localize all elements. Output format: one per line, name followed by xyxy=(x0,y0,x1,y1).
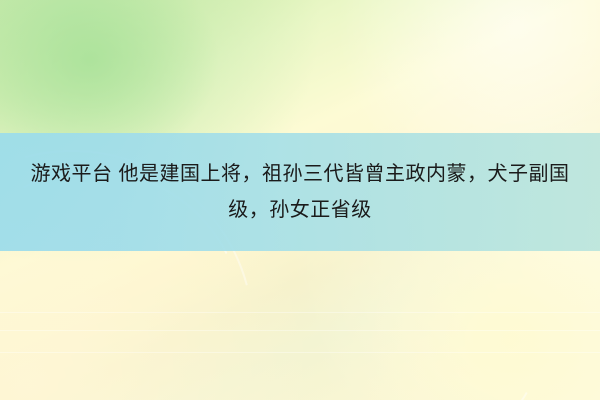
stripe-line-3 xyxy=(0,352,600,353)
promo-banner: 游戏平台 他是建国上将，祖孙三代皆曾主政内蒙，犬子副国级，孙女正省级 xyxy=(0,0,600,400)
stripe-line-1 xyxy=(0,312,600,313)
title-band: 游戏平台 他是建国上将，祖孙三代皆曾主政内蒙，犬子副国级，孙女正省级 xyxy=(0,133,600,251)
banner-title: 游戏平台 他是建国上将，祖孙三代皆曾主政内蒙，犬子副国级，孙女正省级 xyxy=(20,156,580,228)
stripe-line-2 xyxy=(0,330,600,331)
